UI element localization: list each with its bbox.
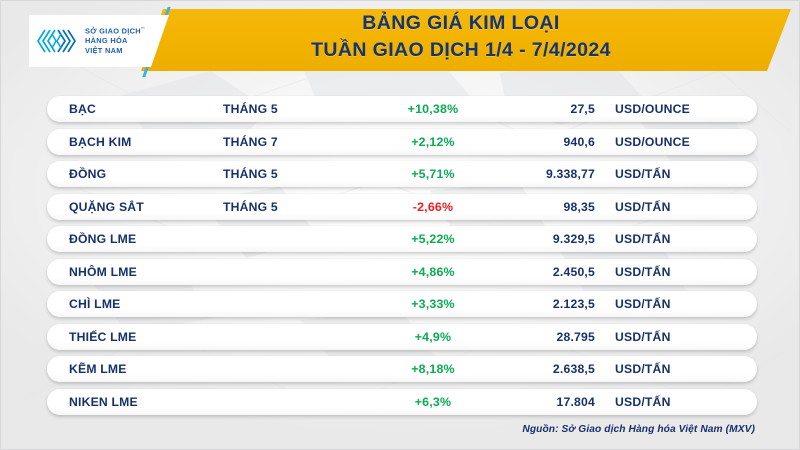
change-percent: +8,18% xyxy=(373,362,493,376)
page-title: BẢNG GIÁ KIM LOẠI TUẦN GIAO DỊCH 1/4 - 7… xyxy=(251,11,671,63)
table-row: ĐỒNG LME+5,22%9.329,5USD/TẤN xyxy=(47,226,757,252)
change-percent: +5,71% xyxy=(373,167,493,181)
contract-month: THÁNG 5 xyxy=(223,167,373,181)
price-unit: USD/OUNCE xyxy=(595,135,757,149)
price-unit: USD/TẤN xyxy=(595,167,757,181)
table-row: NHÔM LME+4,86%2.450,5USD/TẤN xyxy=(47,259,757,285)
change-percent: +10,38% xyxy=(373,102,493,116)
price-unit: USD/TẤN xyxy=(595,330,757,344)
brand-line-1: SỞ GIAO DỊCH xyxy=(85,26,141,35)
price-unit: USD/OUNCE xyxy=(595,102,757,116)
metal-name: ĐỒNG LME xyxy=(47,232,223,246)
price-unit: USD/TẤN xyxy=(595,362,757,376)
table-row: KẼM LME+8,18%2.638,5USD/TẤN xyxy=(47,356,757,382)
table-row: BẠCH KIMTHÁNG 7+2,12%940,6USD/OUNCE xyxy=(47,129,757,155)
source-note: Nguồn: Sở Giao dịch Hàng hóa Việt Nam (M… xyxy=(522,424,755,435)
change-percent: +4,86% xyxy=(373,265,493,279)
metal-name: CHÌ LME xyxy=(47,297,223,311)
brand-line-3: VIỆT NAM xyxy=(85,46,145,56)
contract-month: THÁNG 7 xyxy=(223,135,373,149)
price-value: 2.123,5 xyxy=(493,297,595,311)
table-row: CHÌ LME+3,33%2.123,5USD/TẤN xyxy=(47,291,757,317)
price-value: 9.329,5 xyxy=(493,232,595,246)
contract-month: THÁNG 5 xyxy=(223,200,373,214)
brand-line-2: HÀNG HÓA xyxy=(85,36,145,46)
brand-logo-text: SỞ GIAO DỊCH™ HÀNG HÓA VIỆT NAM xyxy=(85,26,145,57)
price-value: 9.338,77 xyxy=(493,167,595,181)
metal-name: THIẾC LME xyxy=(47,330,223,344)
price-unit: USD/TẤN xyxy=(595,395,757,409)
price-unit: USD/TẤN xyxy=(595,200,757,214)
change-percent: +2,12% xyxy=(373,135,493,149)
change-percent: -2,66% xyxy=(373,200,493,214)
table-row: QUẶNG SẮTTHÁNG 5-2,66%98,35USD/TẤN xyxy=(47,194,757,220)
change-percent: +5,22% xyxy=(373,232,493,246)
price-value: 27,5 xyxy=(493,102,595,116)
price-unit: USD/TẤN xyxy=(595,297,757,311)
contract-month: THÁNG 5 xyxy=(223,102,373,116)
price-value: 17.804 xyxy=(493,395,595,409)
metal-name: NIKEN LME xyxy=(47,395,223,409)
price-value: 2.450,5 xyxy=(493,265,595,279)
price-value: 98,35 xyxy=(493,200,595,214)
page-header: SỞ GIAO DỊCH™ HÀNG HÓA VIỆT NAM BẢNG GIÁ… xyxy=(1,1,800,85)
metal-name: QUẶNG SẮT xyxy=(47,200,223,214)
mxv-interlock-logo-icon xyxy=(35,26,81,56)
brand-logo: SỞ GIAO DỊCH™ HÀNG HÓA VIỆT NAM xyxy=(29,15,169,67)
metal-name: BẠCH KIM xyxy=(47,135,223,149)
trademark-icon: ™ xyxy=(141,26,145,31)
metal-name: ĐỒNG xyxy=(47,167,223,181)
price-value: 2.638,5 xyxy=(493,362,595,376)
metal-price-board: SỞ GIAO DỊCH™ HÀNG HÓA VIỆT NAM BẢNG GIÁ… xyxy=(0,0,800,450)
price-unit: USD/TẤN xyxy=(595,232,757,246)
table-row: BẠCTHÁNG 5+10,38%27,5USD/OUNCE xyxy=(47,96,757,122)
change-percent: +6,3% xyxy=(373,395,493,409)
table-row: ĐỒNGTHÁNG 5+5,71%9.338,77USD/TẤN xyxy=(47,161,757,187)
price-table: BẠCTHÁNG 5+10,38%27,5USD/OUNCEBẠCH KIMTH… xyxy=(47,96,757,421)
title-line-2: TUẦN GIAO DỊCH 1/4 - 7/4/2024 xyxy=(251,37,671,64)
price-unit: USD/TẤN xyxy=(595,265,757,279)
title-line-1: BẢNG GIÁ KIM LOẠI xyxy=(251,11,671,37)
metal-name: KẼM LME xyxy=(47,362,223,376)
change-percent: +4,9% xyxy=(373,330,493,344)
metal-name: NHÔM LME xyxy=(47,265,223,279)
table-row: THIẾC LME+4,9%28.795USD/TẤN xyxy=(47,324,757,350)
price-value: 28.795 xyxy=(493,330,595,344)
metal-name: BẠC xyxy=(47,102,223,116)
change-percent: +3,33% xyxy=(373,297,493,311)
table-row: NIKEN LME+6,3%17.804USD/TẤN xyxy=(47,389,757,415)
price-value: 940,6 xyxy=(493,135,595,149)
